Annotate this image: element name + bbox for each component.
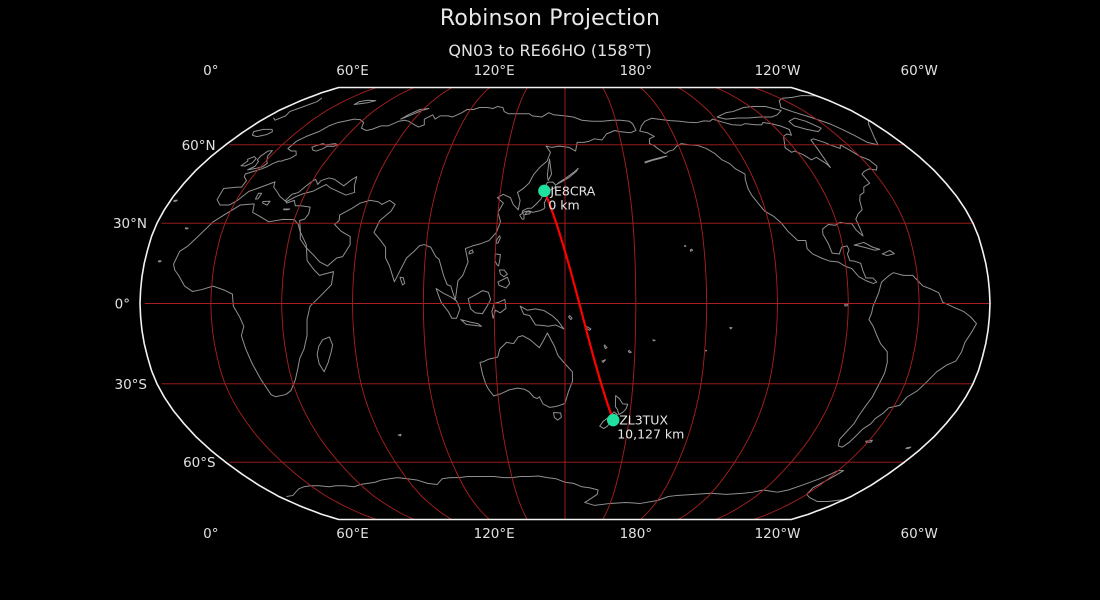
lat-tick-label: 60°S xyxy=(183,455,216,471)
marker-dot[interactable] xyxy=(607,414,619,426)
lon-tick-label: 120°E xyxy=(474,63,515,79)
map-figure: Robinson Projection QN03 to RE66HO (158°… xyxy=(0,0,1100,600)
marker-distance: 0 km xyxy=(548,197,579,212)
lon-tick-label: 120°E xyxy=(474,526,515,542)
lon-tick-label: 180° xyxy=(620,63,653,79)
marker-dot[interactable] xyxy=(538,185,550,197)
marker-callsign: ZL3TUX xyxy=(619,413,668,428)
lon-tick-label: 60°W xyxy=(901,63,938,79)
lon-tick-label: 180° xyxy=(620,526,653,542)
lon-tick-label: 60°W xyxy=(901,526,938,542)
lat-tick-label: 30°S xyxy=(115,377,148,393)
lon-tick-label: 120°W xyxy=(755,526,801,542)
lon-tick-label: 60°E xyxy=(336,63,368,79)
lon-tick-label: 0° xyxy=(203,526,218,542)
world-map[interactable]: JE8CRA0 kmZL3TUX10,127 km 0°0°60°E60°E12… xyxy=(0,0,1100,600)
lat-tick-label: 0° xyxy=(115,297,130,313)
marker-distance: 10,127 km xyxy=(617,427,684,442)
lon-tick-label: 60°E xyxy=(336,526,368,542)
lon-tick-label: 120°W xyxy=(755,63,801,79)
lat-tick-label: 60°N xyxy=(182,138,216,154)
lon-tick-label: 0° xyxy=(203,63,218,79)
marker-callsign: JE8CRA xyxy=(549,183,595,198)
lat-tick-label: 30°N xyxy=(113,216,147,232)
